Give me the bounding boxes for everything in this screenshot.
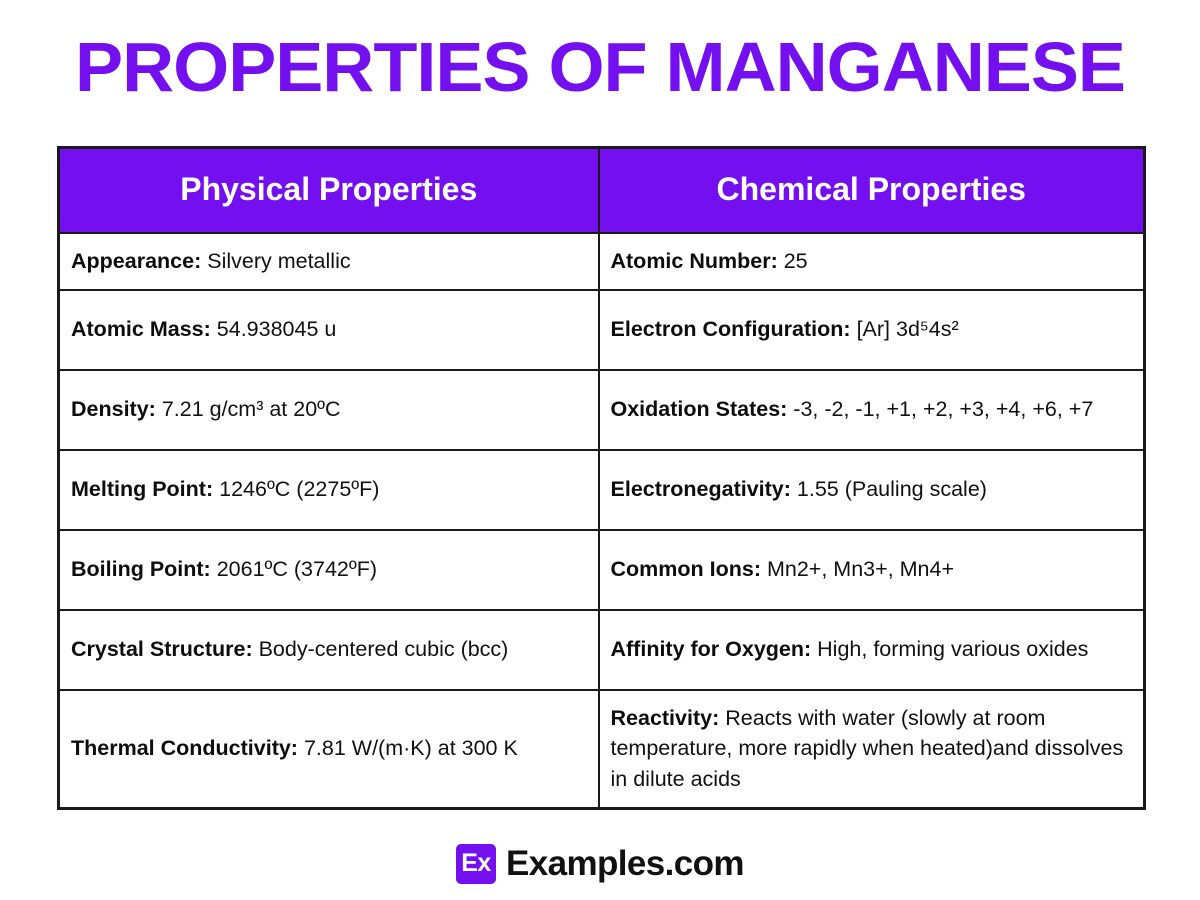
property-value: 1.55 (Pauling scale) — [797, 477, 987, 501]
property-label: Boiling Point: — [71, 557, 211, 581]
property-value: Mn2+, Mn3+, Mn4+ — [767, 557, 954, 581]
property-label: Density: — [71, 397, 156, 421]
column-header-physical: Physical Properties — [59, 148, 599, 234]
property-value: High, forming various oxides — [817, 637, 1088, 661]
cell-physical-crystal-structure: Crystal Structure: Body-centered cubic (… — [59, 610, 599, 690]
cell-chemical-reactivity: Reactivity: Reacts with water (slowly at… — [599, 690, 1145, 809]
property-value: [Ar] 3d⁵4s² — [857, 317, 959, 341]
table-header-row: Physical Properties Chemical Properties — [59, 148, 1145, 234]
property-value: -3, -2, -1, +1, +2, +3, +4, +6, +7 — [793, 397, 1093, 421]
examples-logo-icon: Ex — [456, 844, 496, 884]
property-value: 7.81 W/(m·K) at 300 K — [304, 736, 518, 760]
page-root: PROPERTIES OF MANGANESE Physical Propert… — [0, 0, 1200, 900]
property-value: 54.938045 u — [217, 317, 337, 341]
cell-physical-atomic-mass: Atomic Mass: 54.938045 u — [59, 290, 599, 370]
properties-table-wrapper: Physical Properties Chemical Properties … — [57, 146, 1143, 810]
property-value: 1246ºC (2275ºF) — [219, 477, 379, 501]
page-title: PROPERTIES OF MANGANESE — [39, 32, 1162, 102]
property-label: Electronegativity: — [611, 477, 791, 501]
table-row: Melting Point: 1246ºC (2275ºF) Electrone… — [59, 450, 1145, 530]
property-value: Silvery metallic — [207, 249, 350, 273]
property-label: Thermal Conductivity: — [71, 736, 298, 760]
cell-physical-density: Density: 7.21 g/cm³ at 20ºC — [59, 370, 599, 450]
property-value: 2061ºC (3742ºF) — [217, 557, 377, 581]
cell-chemical-electronegativity: Electronegativity: 1.55 (Pauling scale) — [599, 450, 1145, 530]
cell-physical-appearance: Appearance: Silvery metallic — [59, 233, 599, 290]
property-value: Body-centered cubic (bcc) — [259, 637, 509, 661]
cell-chemical-electron-configuration: Electron Configuration: [Ar] 3d⁵4s² — [599, 290, 1145, 370]
property-label: Crystal Structure: — [71, 637, 253, 661]
cell-physical-thermal-conductivity: Thermal Conductivity: 7.81 W/(m·K) at 30… — [59, 690, 599, 809]
property-label: Common Ions: — [611, 557, 762, 581]
property-label: Atomic Mass: — [71, 317, 211, 341]
cell-physical-melting-point: Melting Point: 1246ºC (2275ºF) — [59, 450, 599, 530]
cell-physical-boiling-point: Boiling Point: 2061ºC (3742ºF) — [59, 530, 599, 610]
brand-name: Examples.com — [506, 844, 744, 884]
table-row: Appearance: Silvery metallic Atomic Numb… — [59, 233, 1145, 290]
table-body: Appearance: Silvery metallic Atomic Numb… — [59, 233, 1145, 808]
property-label: Appearance: — [71, 249, 201, 273]
table-row: Crystal Structure: Body-centered cubic (… — [59, 610, 1145, 690]
property-label: Reactivity: — [611, 706, 720, 730]
table-row: Boiling Point: 2061ºC (3742ºF) Common Io… — [59, 530, 1145, 610]
footer-brand: Ex Examples.com — [456, 844, 744, 884]
cell-chemical-common-ions: Common Ions: Mn2+, Mn3+, Mn4+ — [599, 530, 1145, 610]
property-label: Melting Point: — [71, 477, 213, 501]
cell-chemical-oxidation-states: Oxidation States: -3, -2, -1, +1, +2, +3… — [599, 370, 1145, 450]
table-row: Thermal Conductivity: 7.81 W/(m·K) at 30… — [59, 690, 1145, 809]
properties-table: Physical Properties Chemical Properties … — [57, 146, 1146, 810]
property-label: Atomic Number: — [611, 249, 778, 273]
property-label: Electron Configuration: — [611, 317, 851, 341]
cell-chemical-affinity-for-oxygen: Affinity for Oxygen: High, forming vario… — [599, 610, 1145, 690]
column-header-chemical: Chemical Properties — [599, 148, 1145, 234]
table-row: Density: 7.21 g/cm³ at 20ºC Oxidation St… — [59, 370, 1145, 450]
property-label: Affinity for Oxygen: — [611, 637, 812, 661]
property-value: 25 — [784, 249, 808, 273]
property-value: 7.21 g/cm³ at 20ºC — [162, 397, 341, 421]
table-header: Physical Properties Chemical Properties — [59, 148, 1145, 234]
table-row: Atomic Mass: 54.938045 u Electron Config… — [59, 290, 1145, 370]
property-label: Oxidation States: — [611, 397, 788, 421]
cell-chemical-atomic-number: Atomic Number: 25 — [599, 233, 1145, 290]
